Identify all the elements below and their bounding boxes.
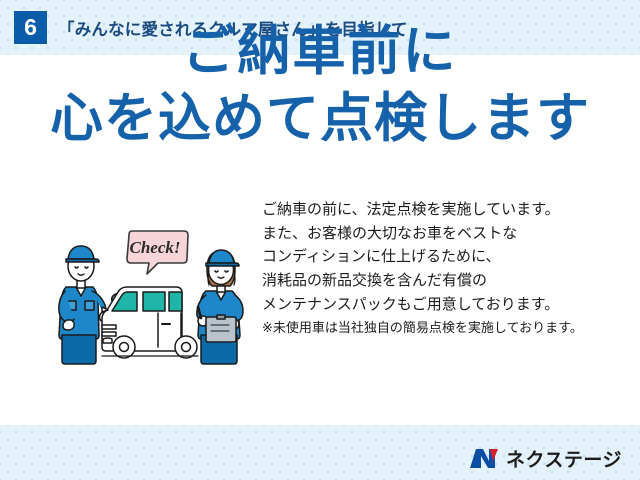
body-line: コンディションに仕上げるために、 bbox=[262, 245, 632, 269]
advertisement-page: 6 「みんなに愛されるクルマ屋さん」を目指して ご納車前に 心を込めて点検します… bbox=[0, 0, 640, 480]
mechanic-right-figure bbox=[197, 250, 243, 364]
mechanics-illustration: Check! bbox=[58, 225, 263, 365]
page-title: ご納車前に 心を込めて点検します bbox=[0, 22, 640, 149]
speech-bubble-label: Check! bbox=[130, 238, 181, 257]
body-text-block: ご納車の前に、法定点検を実施しています。 また、お客様の大切なお車をベストな コ… bbox=[262, 198, 632, 339]
body-line: ご納車の前に、法定点検を実施しています。 bbox=[262, 198, 632, 222]
nextstage-n-mark bbox=[469, 448, 499, 469]
body-note: ※未使用車は当社独自の簡易点検を実施しております。 bbox=[262, 318, 632, 339]
headline-line-2: 心を込めて点検します bbox=[0, 89, 640, 148]
van-illustration bbox=[102, 287, 198, 358]
brand-name: ネクステージ bbox=[506, 445, 622, 472]
body-line: 消耗品の新品交換を含んだ有償の bbox=[262, 269, 632, 293]
headline-line-1: ご納車前に bbox=[0, 22, 640, 81]
body-line: メンテナンスパックもご用意しております。 bbox=[262, 293, 632, 317]
brand-logo: ネクステージ bbox=[469, 445, 622, 472]
body-line: また、お客様の大切なお車をベストな bbox=[262, 222, 632, 246]
